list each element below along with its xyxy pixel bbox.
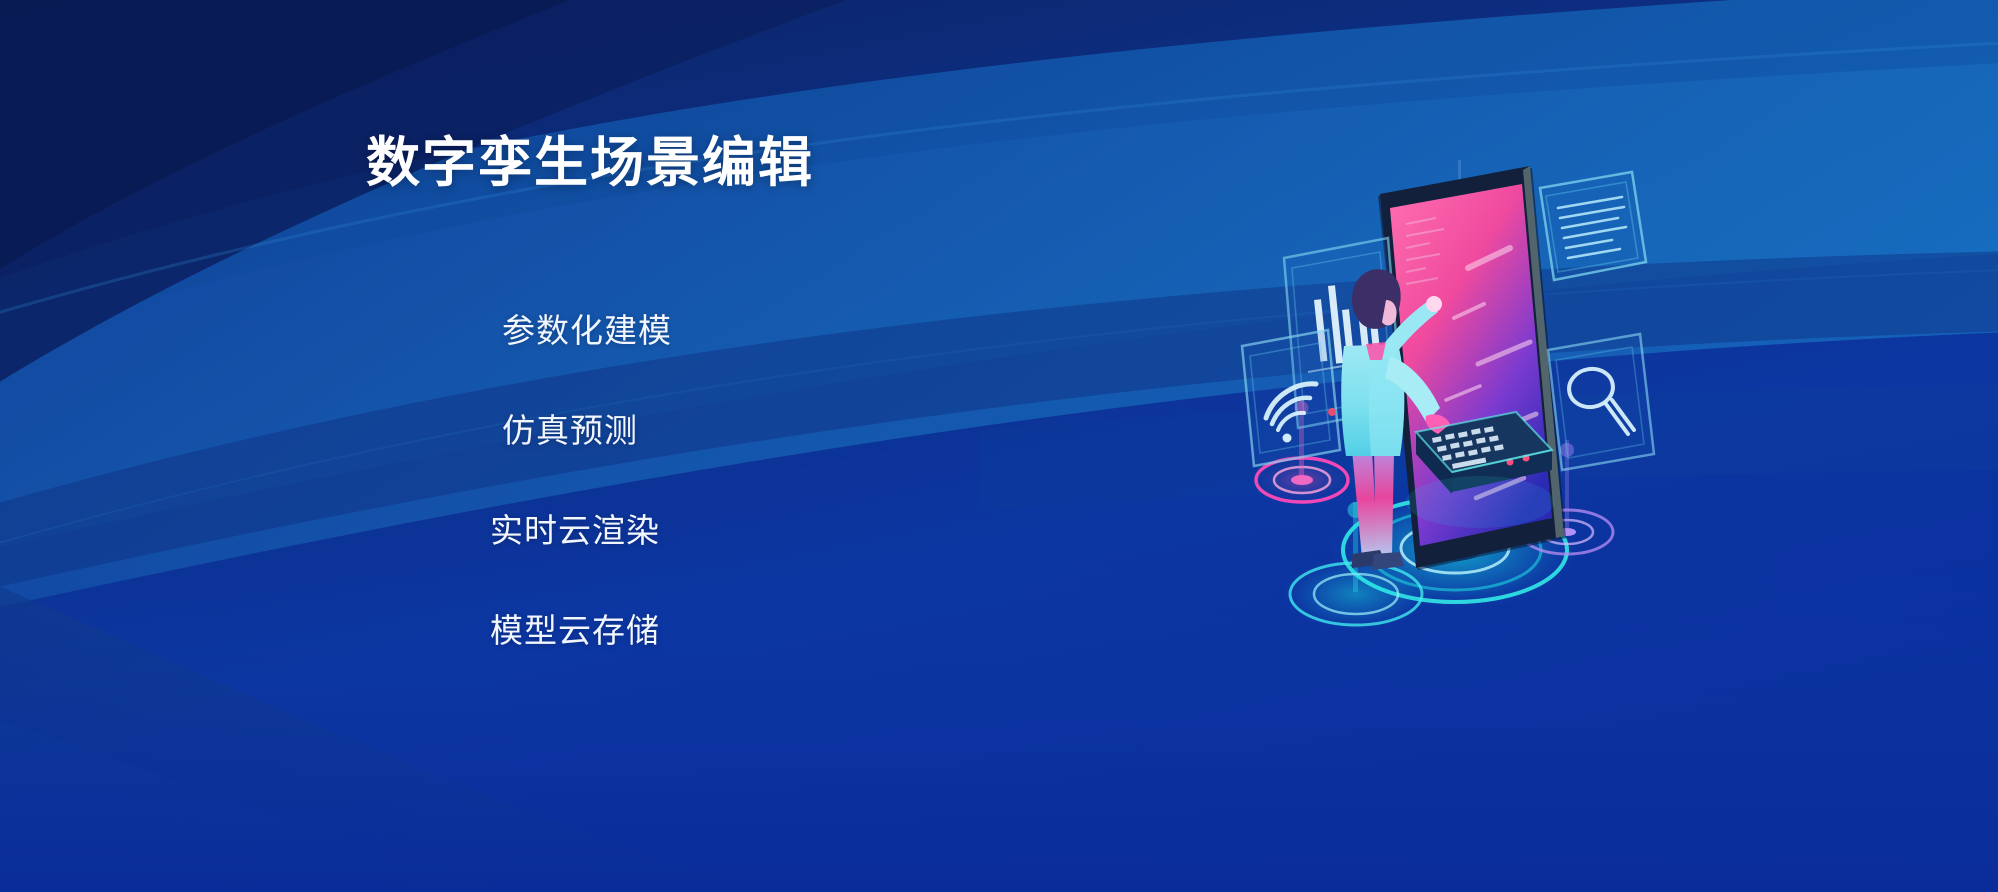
wifi-panel bbox=[1242, 330, 1340, 466]
feature-list: 参数化建模 仿真预测 实时云渲染 模型云存储 bbox=[490, 280, 1010, 680]
slide-canvas: 数字孪生场景编辑 参数化建模 仿真预测 实时云渲染 模型云存储 bbox=[0, 0, 1998, 892]
search-magnifier-panel bbox=[1548, 334, 1654, 470]
feature-item-model-cloud-storage: 模型云存储 bbox=[490, 580, 1010, 680]
feature-label: 实时云渲染 bbox=[490, 514, 660, 547]
page-title: 数字孪生场景编辑 bbox=[366, 118, 814, 197]
digital-twin-illustration bbox=[1240, 150, 1660, 680]
feature-item-simulation-prediction: 仿真预测 bbox=[490, 380, 1010, 480]
feature-item-parametric-modeling: 参数化建模 bbox=[490, 280, 1010, 380]
feature-label: 仿真预测 bbox=[502, 414, 638, 447]
feature-label: 参数化建模 bbox=[502, 314, 672, 347]
feature-label: 模型云存储 bbox=[490, 614, 660, 647]
document-lines-panel bbox=[1540, 172, 1646, 280]
feature-item-realtime-cloud-rendering: 实时云渲染 bbox=[490, 480, 1010, 580]
